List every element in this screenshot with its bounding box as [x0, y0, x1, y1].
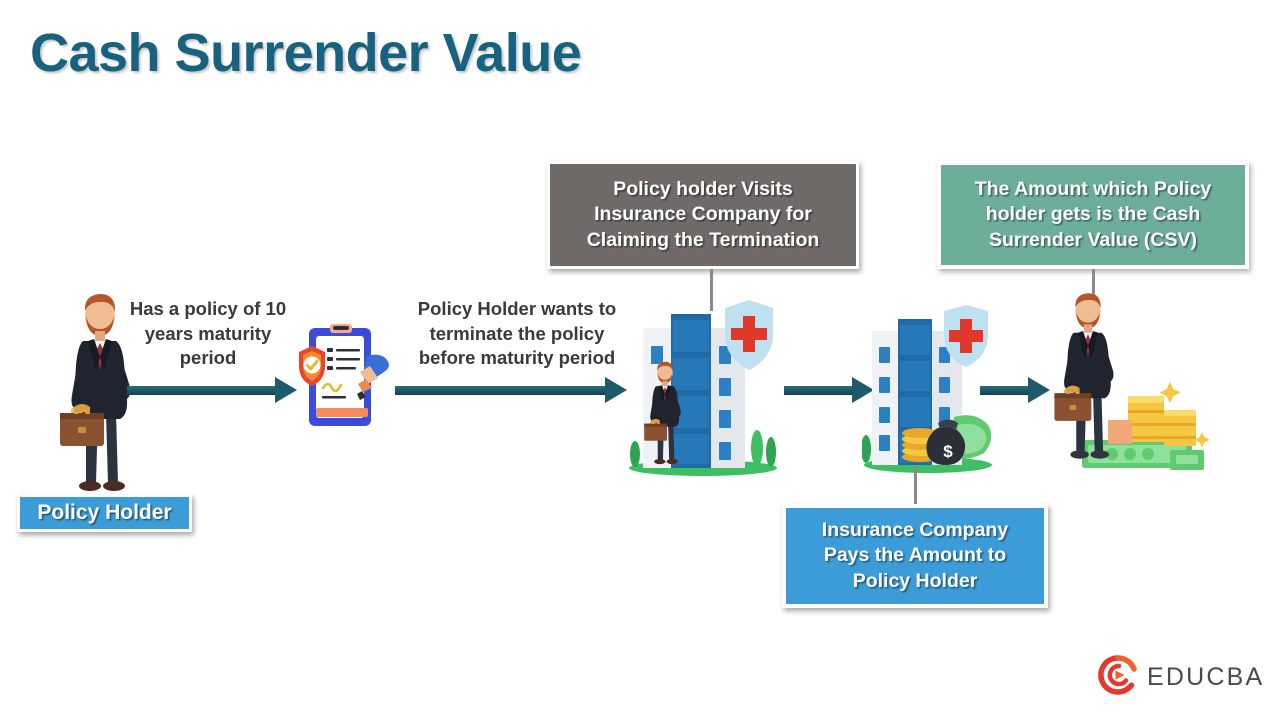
badge-policy-holder: Policy Holder: [17, 494, 192, 532]
caption-line: Policy Holder wants to: [392, 297, 642, 322]
arrow-right-icon: [784, 377, 874, 403]
svg-text:$: $: [943, 442, 953, 461]
callout-insurance-pays: Insurance Company Pays the Amount to Pol…: [782, 504, 1048, 608]
insurance-building-icon: [625, 300, 790, 478]
callout-policy-holder-visits: Policy holder Visits Insurance Company f…: [547, 161, 859, 269]
arrow-right-icon: [395, 377, 627, 403]
caption-terminate: Policy Holder wants to terminate the pol…: [392, 297, 642, 371]
callout-line: holder gets is the Cash: [986, 202, 1201, 227]
connector-line: [914, 466, 917, 504]
caption-line: Has a policy of 10: [118, 297, 298, 322]
caption-line: before maturity period: [392, 346, 642, 371]
businessman-with-money-icon: [1030, 290, 1220, 480]
callout-cash-surrender-value: The Amount which Policy holder gets is t…: [937, 161, 1249, 269]
badge-label: Policy Holder: [37, 501, 171, 525]
callout-line: Insurance Company: [822, 518, 1008, 543]
callout-line: Policy holder Visits: [613, 177, 793, 202]
caption-line: years maturity: [118, 322, 298, 347]
caption-line: period: [118, 346, 298, 371]
callout-line: Claiming the Termination: [587, 228, 820, 253]
educba-wordmark: EDUCBA: [1147, 663, 1264, 692]
caption-line: terminate the policy: [392, 322, 642, 347]
callout-line: Policy Holder: [853, 569, 978, 594]
callout-line: Pays the Amount to: [824, 543, 1006, 568]
educba-logo: EDUCBA: [1098, 655, 1264, 700]
callout-line: Surrender Value (CSV): [989, 228, 1197, 253]
arrow-right-icon: [127, 377, 297, 403]
educba-mark-icon: [1098, 655, 1138, 700]
page-title: Cash Surrender Value: [30, 22, 581, 84]
callout-line: The Amount which Policy: [975, 177, 1212, 202]
caption-maturity: Has a policy of 10 years maturity period: [118, 297, 298, 371]
policy-clipboard-icon: [297, 322, 397, 434]
callout-line: Insurance Company for: [594, 202, 812, 227]
